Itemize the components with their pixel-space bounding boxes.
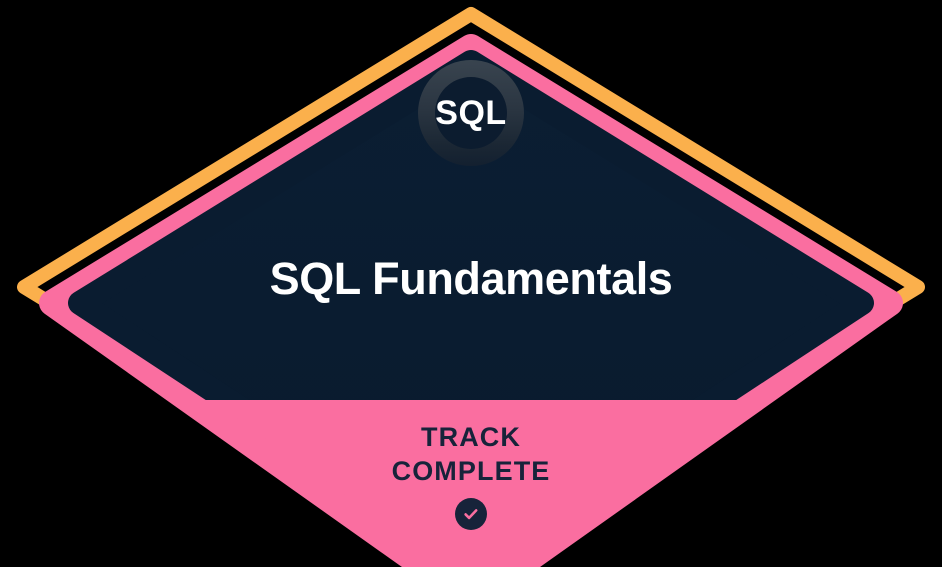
title-row: SQL Fundamentals	[0, 255, 942, 302]
check-circle-icon	[455, 498, 487, 530]
logo-block: SQL	[0, 60, 942, 171]
status-line-track: TRACK	[0, 420, 942, 454]
status-line-complete: COMPLETE	[0, 454, 942, 488]
status-block: TRACK COMPLETE	[0, 420, 942, 530]
track-title: SQL Fundamentals	[270, 255, 673, 302]
badge-content-layer: SQL SQL Fundamentals TRACK COMPLETE	[0, 0, 942, 567]
badge-canvas: SQL SQL Fundamentals TRACK COMPLETE	[0, 0, 942, 567]
logo-label: SQL	[418, 60, 524, 166]
check-mark-icon	[461, 504, 481, 524]
ring-logo-icon: SQL	[418, 60, 524, 166]
